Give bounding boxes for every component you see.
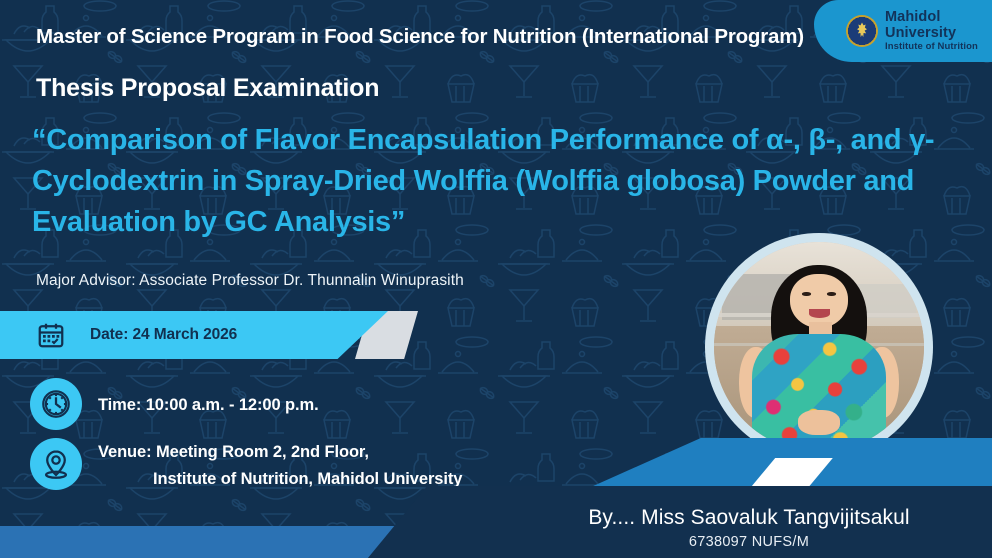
venue-line-2: Institute of Nutrition, Mahidol Universi… bbox=[98, 465, 462, 492]
venue-line-1: Venue: Meeting Room 2, 2nd Floor, bbox=[98, 438, 462, 465]
presenter-student-id: 6738097 NUFS/M bbox=[514, 532, 984, 554]
date-row: Date: 24 March 2026 bbox=[28, 312, 237, 358]
presenter-photo-ring bbox=[705, 233, 933, 461]
venue-row: Venue: Meeting Room 2, 2nd Floor, Instit… bbox=[30, 438, 462, 492]
presenter-portrait-photo bbox=[714, 242, 924, 452]
location-pin-icon bbox=[30, 438, 82, 490]
event-type-heading: Thesis Proposal Examination bbox=[36, 74, 379, 103]
calendar-icon bbox=[28, 312, 74, 358]
time-text: Time: 10:00 a.m. - 12:00 p.m. bbox=[98, 391, 319, 418]
presenter-name: By.... Miss Saovaluk Tangvijitsakul bbox=[514, 504, 984, 532]
logo-institute-name: Institute of Nutrition bbox=[885, 42, 992, 52]
date-text: Date: 24 March 2026 bbox=[90, 326, 237, 344]
clock-icon bbox=[30, 378, 82, 430]
program-name: Master of Science Program in Food Scienc… bbox=[36, 25, 804, 49]
presenter-name-block: By.... Miss Saovaluk Tangvijitsakul 6738… bbox=[514, 504, 984, 554]
logo-university-name: Mahidol University bbox=[885, 10, 992, 41]
university-logo: Mahidol University Institute of Nutritio… bbox=[814, 0, 992, 62]
major-advisor: Major Advisor: Associate Professor Dr. T… bbox=[36, 272, 464, 290]
thesis-title: “Comparison of Flavor Encapsulation Perf… bbox=[32, 120, 962, 244]
thesis-proposal-poster: Mahidol University Institute of Nutritio… bbox=[0, 0, 992, 558]
time-row: Time: 10:00 a.m. - 12:00 p.m. bbox=[30, 378, 319, 430]
mahidol-university-emblem-icon bbox=[846, 15, 878, 47]
